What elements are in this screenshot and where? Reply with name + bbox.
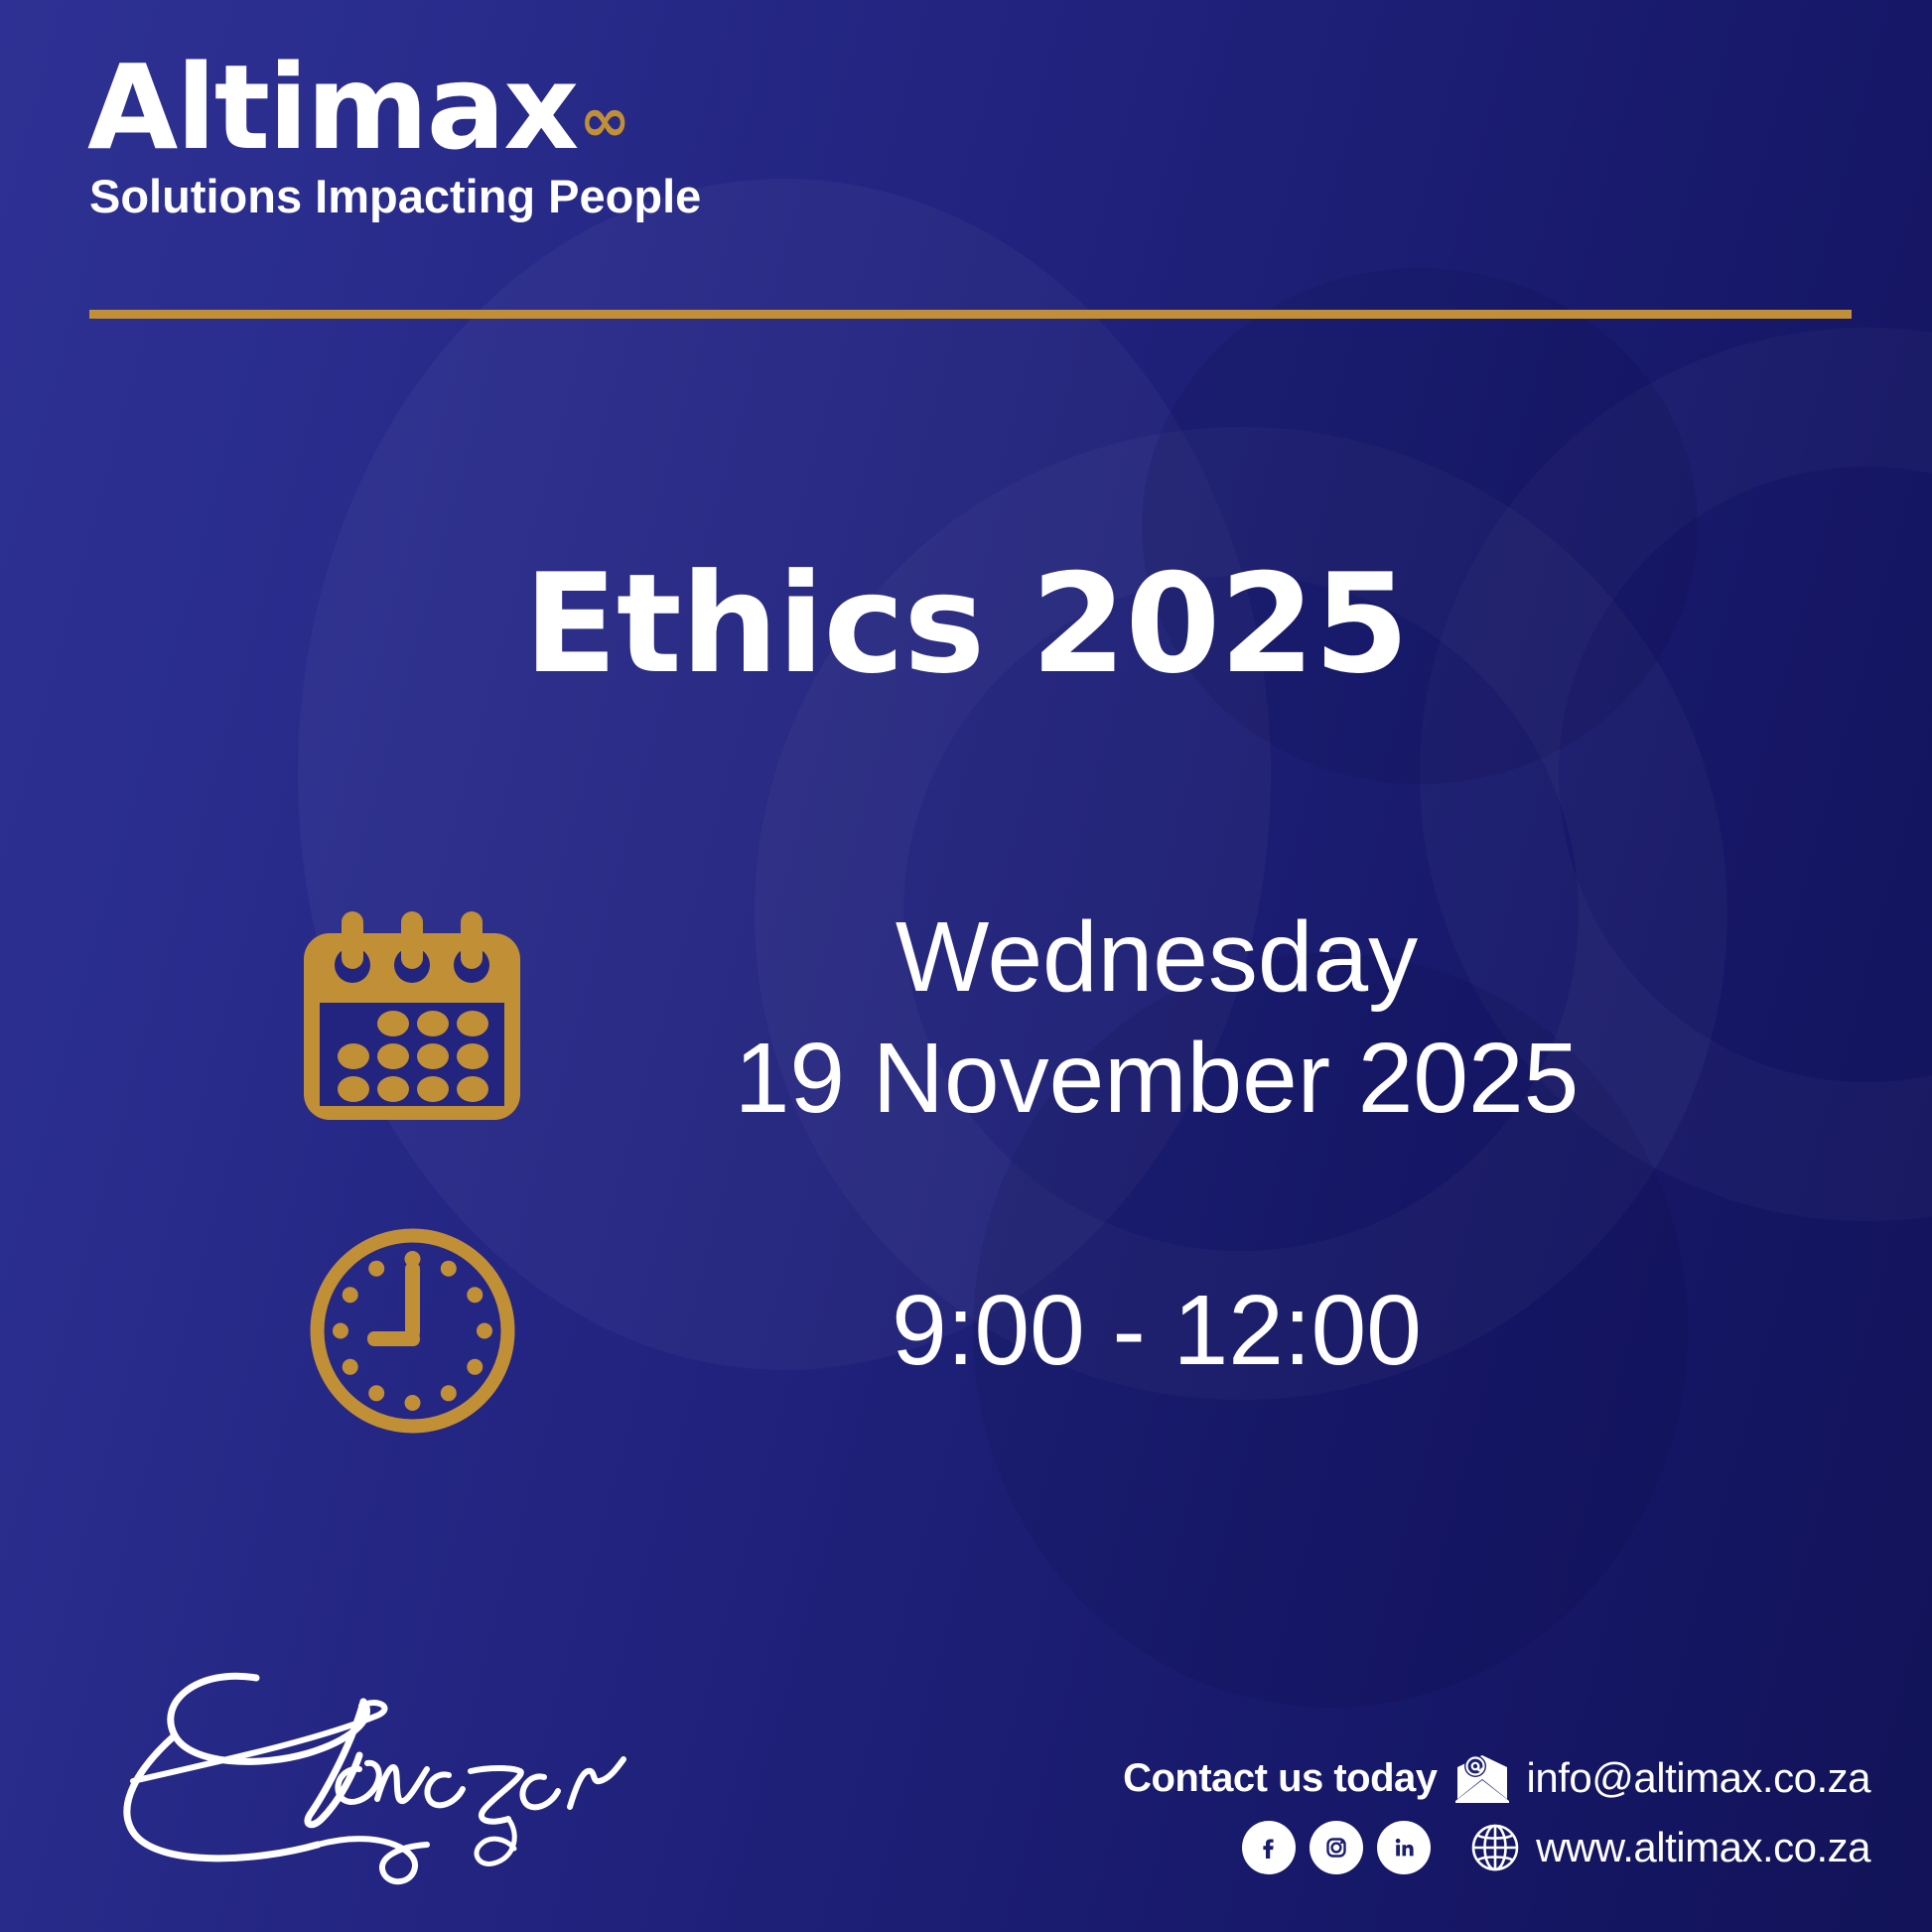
instagram-icon[interactable]	[1310, 1821, 1363, 1874]
signature-ebenezer	[79, 1650, 635, 1898]
page-title: Ethics 2025	[0, 556, 1932, 693]
contact-email[interactable]: info@altimax.co.za	[1527, 1754, 1870, 1802]
date-text-group: Wednesday 19 November 2025	[576, 897, 1737, 1139]
event-time: 9:00 - 12:00	[576, 1270, 1737, 1391]
brand-tagline: Solutions Impacting People	[89, 169, 701, 223]
brand-name: Altimax	[87, 52, 577, 163]
globe-icon	[1468, 1821, 1522, 1874]
footer-contact: Contact us today info@altimax.co.za	[1123, 1753, 1870, 1874]
contact-social-row: www.altimax.co.za	[1123, 1821, 1870, 1874]
poster-canvas: Altimax ∞ Solutions Impacting People Eth…	[0, 0, 1932, 1932]
envelope-at-icon	[1453, 1753, 1511, 1803]
brand-logo-row: Altimax ∞	[87, 52, 701, 163]
calendar-icon	[248, 911, 576, 1125]
contact-label: Contact us today	[1123, 1756, 1437, 1801]
contact-email-row: Contact us today info@altimax.co.za	[1123, 1753, 1870, 1803]
gold-divider	[89, 310, 1852, 319]
contact-website[interactable]: www.altimax.co.za	[1536, 1824, 1870, 1871]
linkedin-icon[interactable]	[1377, 1821, 1431, 1874]
event-details: Wednesday 19 November 2025	[248, 854, 1737, 1479]
infinity-icon: ∞	[579, 89, 630, 151]
clock-icon	[248, 1224, 576, 1438]
time-text-group: 9:00 - 12:00	[576, 1270, 1737, 1391]
watermark-shadow-upper	[1142, 268, 1698, 784]
brand-logo: Altimax ∞ Solutions Impacting People	[87, 52, 701, 223]
event-day-name: Wednesday	[576, 897, 1737, 1018]
detail-row-time: 9:00 - 12:00	[248, 1181, 1737, 1479]
facebook-icon[interactable]	[1242, 1821, 1296, 1874]
detail-row-date: Wednesday 19 November 2025	[248, 854, 1737, 1181]
event-date: 19 November 2025	[576, 1018, 1737, 1139]
